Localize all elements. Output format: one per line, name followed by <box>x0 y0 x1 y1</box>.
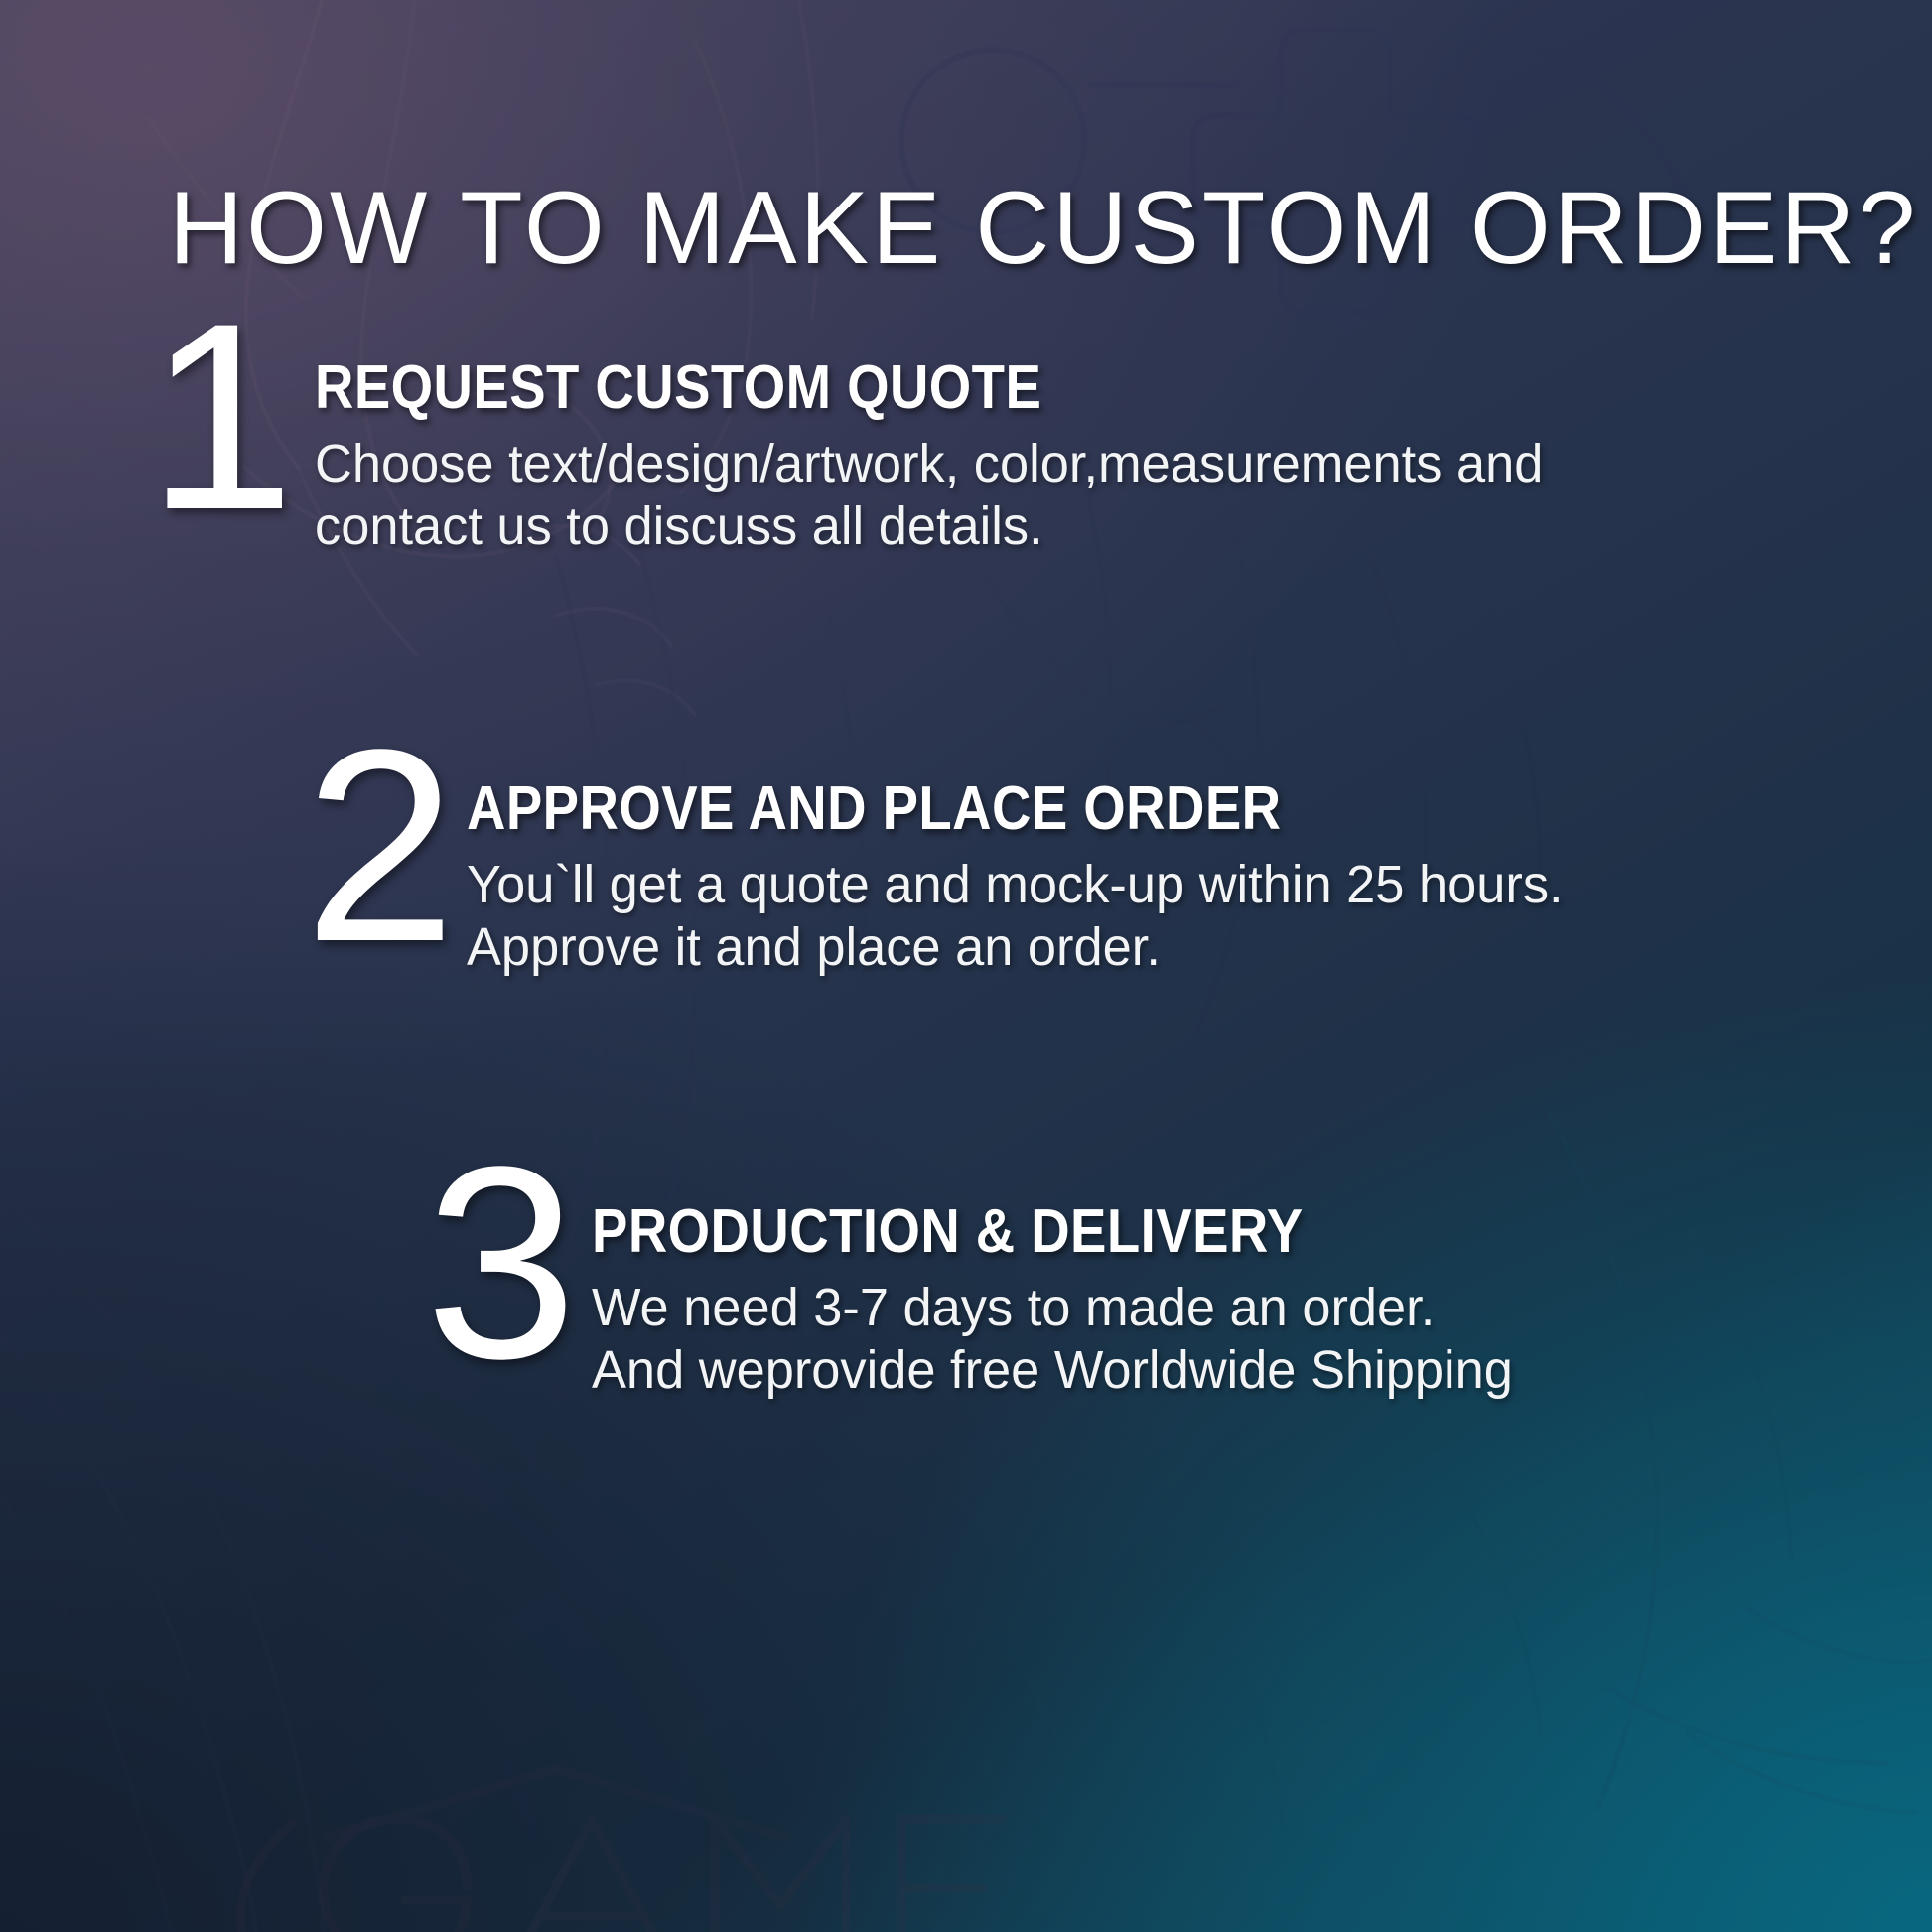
step-item-2: 2 APPROVE AND PLACE ORDER You`ll get a q… <box>304 737 1853 979</box>
step-number-1: 1 <box>147 310 291 522</box>
step-description-3-line-2: And weprovide free Worldwide Shipping <box>592 1339 1827 1402</box>
step-heading-3: PRODUCTION & DELIVERY <box>592 1201 1713 1263</box>
step-description-1: Choose text/design/artwork, color,measur… <box>315 433 1789 558</box>
step-description-3-line-1: We need 3-7 days to made an order. <box>592 1277 1827 1339</box>
step-body-2: APPROVE AND PLACE ORDER You`ll get a quo… <box>467 737 1854 979</box>
step-number-2: 2 <box>304 737 453 956</box>
step-heading-1: REQUEST CUSTOM QUOTE <box>315 357 1652 419</box>
infographic-canvas: HOW TO MAKE CUSTOM ORDER? 1 REQUEST CUST… <box>0 0 1932 1932</box>
step-heading-2: APPROVE AND PLACE ORDER <box>467 778 1687 840</box>
page-title: HOW TO MAKE CUSTOM ORDER? <box>169 177 1797 280</box>
step-number-3: 3 <box>425 1154 574 1373</box>
step-body-3: PRODUCTION & DELIVERY We need 3-7 days t… <box>592 1140 1865 1402</box>
step-description-1-line-1: Choose text/design/artwork, color,measur… <box>315 433 1789 495</box>
step-description-2: You`ll get a quote and mock-up within 25… <box>467 854 1812 979</box>
step-description-2-line-2: Approve it and place an order. <box>467 916 1812 979</box>
step-description-3: We need 3-7 days to made an order. And w… <box>592 1277 1827 1402</box>
step-description-2-line-1: You`ll get a quote and mock-up within 25… <box>467 854 1812 916</box>
step-body-1: REQUEST CUSTOM QUOTE Choose text/design/… <box>315 344 1835 558</box>
step-description-1-line-2: contact us to discuss all details. <box>315 495 1789 558</box>
step-item-3: 3 PRODUCTION & DELIVERY We need 3-7 days… <box>425 1140 1864 1402</box>
step-item-1: 1 REQUEST CUSTOM QUOTE Choose text/desig… <box>147 344 1835 558</box>
